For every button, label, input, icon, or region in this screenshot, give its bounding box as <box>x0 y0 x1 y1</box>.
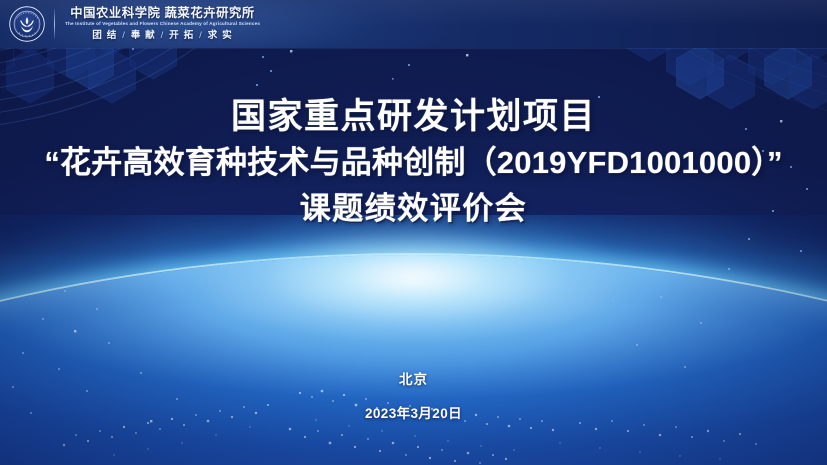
header-bar: 中国农业科学院 蔬菜花卉研究所 The Institute of Vegetab… <box>0 0 827 48</box>
org-name-cn: 中国农业科学院 蔬菜花卉研究所 <box>70 7 255 19</box>
header-content: 中国农业科学院 蔬菜花卉研究所 The Institute of Vegetab… <box>9 0 260 48</box>
motto-item-1: 团 结 <box>92 30 117 41</box>
title-line-2-project: “花卉高效育种技术与品种创制（2019YFD1001000）” <box>0 145 827 182</box>
motto-item-2: 奉 献 <box>131 30 156 41</box>
slide-footer-block: 北京 2023年3月20日 <box>0 368 827 422</box>
org-name-en: The Institute of Vegetables and Flowers … <box>65 22 260 27</box>
slide-title-block: 国家重点研发计划项目 “花卉高效育种技术与品种创制（2019YFD1001000… <box>0 96 827 227</box>
motto-separator: / <box>199 30 203 41</box>
footer-place: 北京 <box>0 368 827 388</box>
org-motto: 团 结 / 奉 献 / 开 拓 / 求 实 <box>92 31 233 41</box>
earth-atmosphere-rim <box>0 253 827 465</box>
motto-separator: / <box>122 30 126 41</box>
footer-date: 2023年3月20日 <box>0 402 827 422</box>
header-org-block: 中国农业科学院 蔬菜花卉研究所 The Institute of Vegetab… <box>65 7 260 40</box>
title-line-1: 国家重点研发计划项目 <box>0 96 827 137</box>
presentation-slide: 中国农业科学院 蔬菜花卉研究所 The Institute of Vegetab… <box>0 0 827 465</box>
earth-horizon <box>0 215 827 465</box>
title-line-3-event: 课题绩效评价会 <box>0 191 827 228</box>
motto-item-4: 求 实 <box>208 30 233 41</box>
motto-item-3: 开 拓 <box>169 30 194 41</box>
header-divider <box>54 9 55 39</box>
cafs-ivf-emblem-icon <box>9 6 45 42</box>
motto-separator: / <box>161 30 165 41</box>
